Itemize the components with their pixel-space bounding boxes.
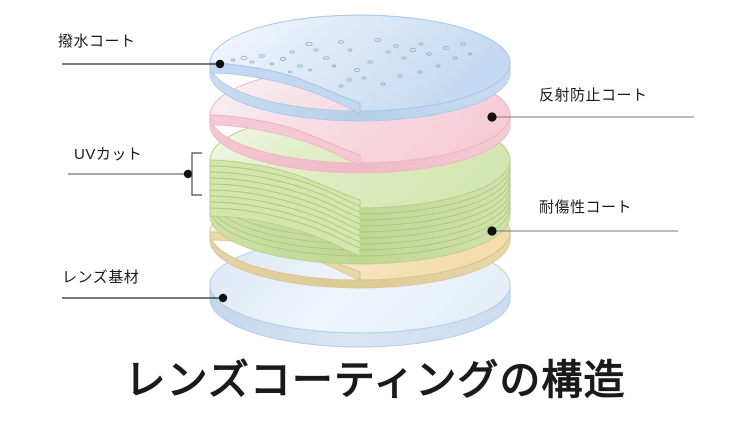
label-uv-cut: UVカット (74, 143, 142, 164)
label-water-repellent: 撥水コート (58, 30, 136, 51)
diagram-canvas: 撥水コート 反射防止コート UVカット 耐傷性コート レンズ基材 レンズコーティ… (0, 0, 750, 430)
label-anti-reflective: 反射防止コート (539, 84, 648, 105)
dot-lens-substrate (219, 294, 227, 302)
label-scratch-resistant: 耐傷性コート (539, 196, 632, 217)
page-title: レンズコーティングの構造 (0, 346, 750, 406)
label-lens-substrate: レンズ基材 (62, 266, 139, 287)
bracket-uv-cut (192, 153, 202, 195)
dot-uv-cut (184, 170, 192, 178)
layer-water-repellent (210, 15, 510, 121)
dot-anti-reflective (487, 112, 496, 121)
dot-scratch-resistant (487, 226, 496, 235)
dot-water-repellent (216, 60, 224, 68)
